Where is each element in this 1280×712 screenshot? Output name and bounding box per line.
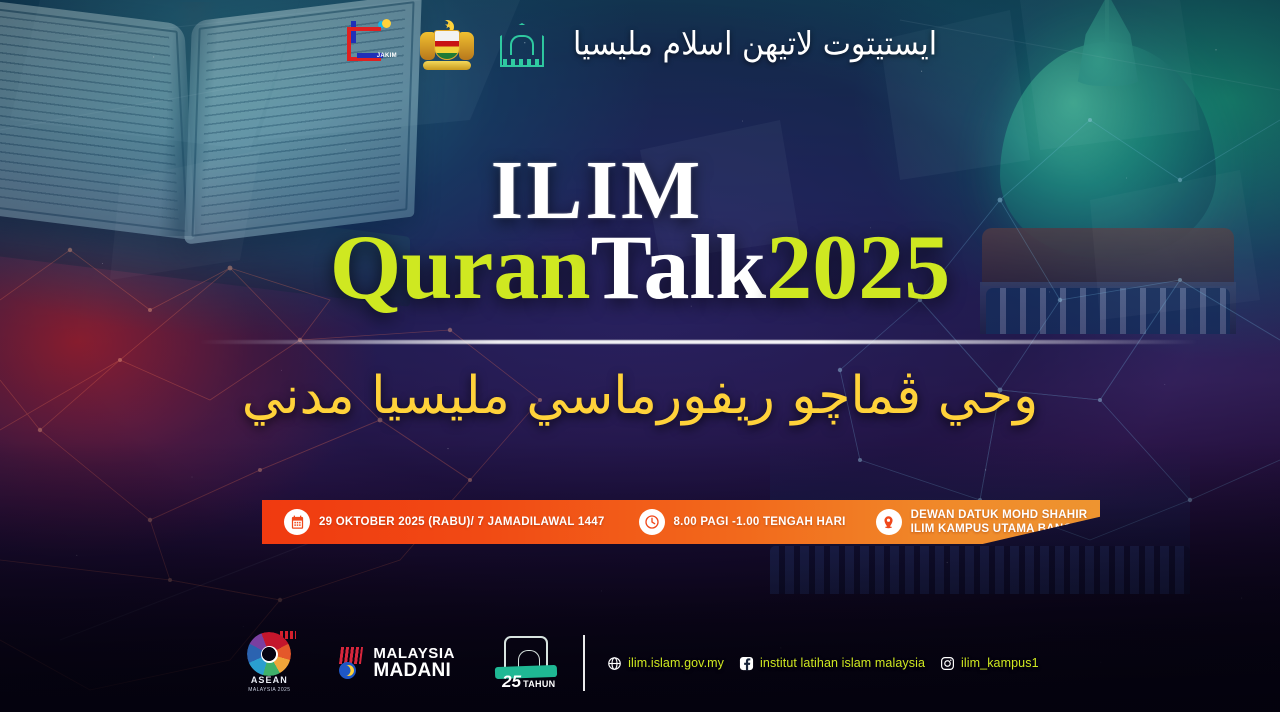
title-word-quran: Quran xyxy=(330,216,591,318)
website-icon xyxy=(607,656,622,671)
page-title: ILIM QuranTalk2025 xyxy=(0,152,1280,312)
anniversary-number: 25 xyxy=(502,672,521,692)
title-divider-rule xyxy=(198,340,1198,344)
title-word-talk: Talk xyxy=(591,216,767,318)
calendar-icon xyxy=(284,509,310,535)
jakim-logo: JAKIM xyxy=(343,19,397,71)
social-link-website[interactable]: ilim.islam.gov.my xyxy=(607,656,724,671)
asean-malaysia-2025-logo: ASEAN MALAYSIA 2025 xyxy=(241,632,297,694)
ilim-25-tahun-logo: 25 TAHUN xyxy=(495,634,557,692)
website-handle: ilim.islam.gov.my xyxy=(628,656,724,670)
asean-logo-label: ASEAN xyxy=(241,675,297,685)
footer-bar: ASEAN MALAYSIA 2025 MALAYSIA MADANI 25 T… xyxy=(0,632,1280,694)
social-link-instagram[interactable]: ilim_kampus1 xyxy=(940,656,1039,671)
info-item-time: 8.00 PAGI -1.00 TENGAH HARI xyxy=(639,509,846,535)
social-links-group: ilim.islam.gov.my institut latihan islam… xyxy=(607,656,1039,671)
instagram-handle: ilim_kampus1 xyxy=(961,656,1039,670)
madani-label-line1: MALAYSIA xyxy=(373,646,455,661)
info-item-venue: DEWAN DATUK MOHD SHAHIRILIM KAMPUS UTAMA… xyxy=(876,508,1088,536)
footer-logo-group: ASEAN MALAYSIA 2025 MALAYSIA MADANI 25 T… xyxy=(241,632,557,694)
event-poster-banner: JAKIM ايستيتوت لاتيهن اسلام مليسيا ILIM xyxy=(0,0,1280,712)
tagline-jawi: وحي ڤماچو ريفورماسي مليسيا مدني xyxy=(0,364,1280,429)
clock-icon xyxy=(639,509,665,535)
ilim-jawi-wordmark: ايستيتوت لاتيهن اسلام مليسيا xyxy=(573,29,937,61)
venue-line-2: ILIM KAMPUS UTAMA BANGI xyxy=(911,523,1076,535)
event-date-text: 29 OKTOBER 2025 (RABU)/ 7 JAMADILAWAL 14… xyxy=(319,515,605,529)
facebook-handle: institut latihan islam malaysia xyxy=(760,656,925,670)
jata-negara-logo xyxy=(419,18,475,72)
instagram-icon xyxy=(940,656,955,671)
venue-line-1: DEWAN DATUK MOHD SHAHIR xyxy=(911,509,1088,521)
social-link-facebook[interactable]: institut latihan islam malaysia xyxy=(739,656,925,671)
info-item-date: 29 OKTOBER 2025 (RABU)/ 7 JAMADILAWAL 14… xyxy=(284,509,605,535)
ilim-logo xyxy=(497,19,547,71)
malaysia-madani-logo: MALAYSIA MADANI xyxy=(337,646,455,681)
footer-divider xyxy=(583,635,585,691)
jakim-logo-label: JAKIM xyxy=(377,53,397,59)
facebook-icon xyxy=(739,656,754,671)
madani-label-line2: MADANI xyxy=(373,661,455,680)
header-logo-row: JAKIM ايستيتوت لاتيهن اسلام مليسيا xyxy=(0,18,1280,72)
asean-logo-sublabel: MALAYSIA 2025 xyxy=(241,687,297,693)
title-word-year: 2025 xyxy=(766,216,950,318)
event-time-text: 8.00 PAGI -1.00 TENGAH HARI xyxy=(674,515,846,529)
location-pin-icon xyxy=(876,509,902,535)
anniversary-word: TAHUN xyxy=(523,679,555,689)
event-info-bar: 29 OKTOBER 2025 (RABU)/ 7 JAMADILAWAL 14… xyxy=(262,500,1100,544)
event-venue-text: DEWAN DATUK MOHD SHAHIRILIM KAMPUS UTAMA… xyxy=(911,508,1088,536)
title-line-main: QuranTalk2025 xyxy=(0,223,1280,311)
